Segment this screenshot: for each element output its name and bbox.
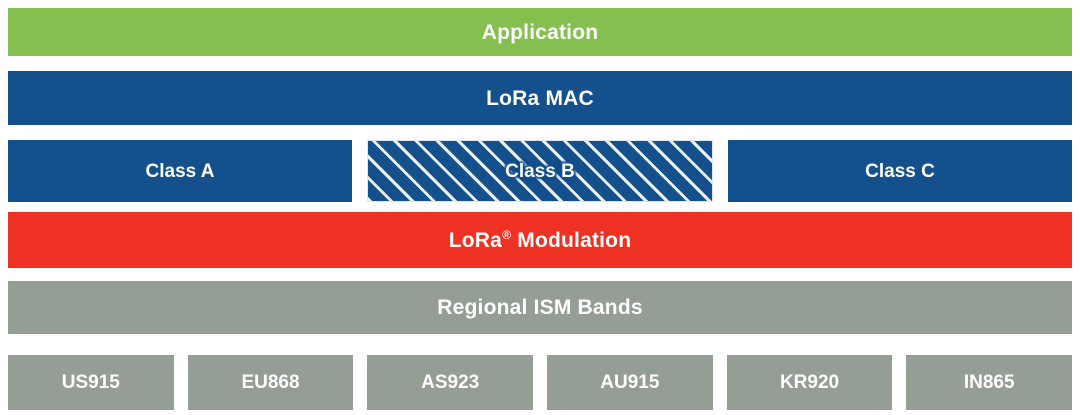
class-b-label: Class B bbox=[505, 162, 575, 181]
layer-application-label: Application bbox=[482, 22, 599, 43]
band-in865-label: IN865 bbox=[964, 373, 1015, 392]
layer-regional-ism-bands: Regional ISM Bands bbox=[8, 281, 1072, 334]
layer-application: Application bbox=[8, 8, 1072, 56]
band-box-kr920: KR920 bbox=[727, 355, 893, 410]
band-eu868-label: EU868 bbox=[241, 373, 299, 392]
band-box-as923: AS923 bbox=[367, 355, 533, 410]
band-au915-label: AU915 bbox=[600, 373, 659, 392]
layer-lora-modulation-label: LoRa® Modulation bbox=[449, 230, 632, 251]
class-box-class-b: Class B bbox=[367, 140, 713, 202]
lorawan-protocol-stack-diagram: Application LoRa MAC Class A Class B Cla… bbox=[0, 0, 1080, 415]
modulation-word: Modulation bbox=[511, 229, 631, 252]
band-kr920-label: KR920 bbox=[780, 373, 839, 392]
layer-regional-ism-bands-label: Regional ISM Bands bbox=[437, 297, 642, 318]
band-box-in865: IN865 bbox=[906, 355, 1072, 410]
class-box-class-a: Class A bbox=[8, 140, 352, 202]
lora-wordmark: LoRa bbox=[449, 229, 502, 252]
class-a-label: Class A bbox=[146, 162, 215, 181]
registered-trademark-icon: ® bbox=[502, 228, 511, 242]
band-box-us915: US915 bbox=[8, 355, 174, 410]
band-us915-label: US915 bbox=[62, 373, 120, 392]
regional-band-list: US915 EU868 AS923 AU915 KR920 IN865 bbox=[8, 355, 1072, 410]
layer-device-classes: Class A Class B Class C bbox=[8, 140, 1072, 202]
layer-lora-modulation: LoRa® Modulation bbox=[8, 212, 1072, 268]
class-c-label: Class C bbox=[865, 162, 935, 181]
band-box-eu868: EU868 bbox=[188, 355, 354, 410]
layer-lora-mac-label: LoRa MAC bbox=[486, 88, 594, 109]
band-as923-label: AS923 bbox=[421, 373, 479, 392]
class-box-class-c: Class C bbox=[728, 140, 1072, 202]
layer-lora-mac: LoRa MAC bbox=[8, 71, 1072, 125]
band-box-au915: AU915 bbox=[547, 355, 713, 410]
